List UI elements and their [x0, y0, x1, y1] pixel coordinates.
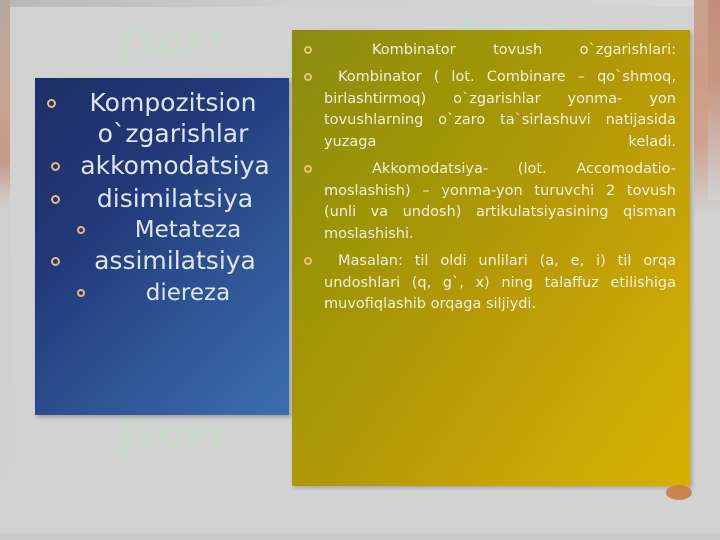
watermark-symbol: ƒ — [118, 412, 136, 460]
circle-bullet-icon — [51, 162, 60, 171]
list-item-label: Kombinator ( lot. Combinare – qo`shmoq, … — [324, 69, 676, 149]
circle-bullet-icon — [304, 165, 312, 173]
list-item: Kombinator ( lot. Combinare – qo`shmoq, … — [300, 67, 676, 153]
circle-bullet-icon — [51, 195, 60, 204]
left-content-box: Kompozitsion o`zgarishlar akkomodatsiya … — [35, 78, 289, 415]
list-item-label: Akkomodatsiya- (lot. Accomodatio-moslash… — [324, 161, 676, 241]
list-item: Kombinator tovush o`zgarishlari: — [300, 40, 676, 61]
circle-bullet-icon — [47, 99, 56, 108]
list-item: Metateza — [41, 216, 279, 244]
decorative-dot — [666, 485, 692, 500]
list-item-label: diereza — [146, 280, 230, 306]
list-item-label: disimilatsiya — [97, 184, 253, 213]
list-item-label: Kompozitsion o`zgarishlar — [90, 88, 257, 148]
list-item: assimilatsiya — [41, 246, 279, 277]
circle-bullet-icon — [51, 257, 60, 266]
right-bullet-list: Kombinator tovush o`zgarishlari: Kombina… — [300, 40, 676, 315]
watermark-text: SOFT — [136, 26, 228, 61]
list-item: diereza — [41, 279, 279, 307]
watermark-text: SOFT — [136, 420, 228, 455]
list-item-label: Metateza — [135, 217, 241, 243]
circle-bullet-icon — [304, 73, 312, 81]
list-item-label: Masalan: til oldi unlilari (a, e, i) til… — [324, 253, 676, 312]
slide-bottom-border — [0, 534, 720, 540]
watermark: ƒSOFT — [118, 18, 229, 66]
list-item: akkomodatsiya — [41, 151, 279, 182]
watermark-symbol: ƒ — [118, 18, 136, 66]
slide-top-border — [0, 0, 720, 7]
list-item: Akkomodatsiya- (lot. Accomodatio-moslash… — [300, 159, 676, 245]
circle-bullet-icon — [77, 289, 85, 297]
slide-left-border — [0, 0, 10, 540]
right-content-box: Kombinator tovush o`zgarishlari: Kombina… — [292, 30, 690, 486]
list-item: Kompozitsion o`zgarishlar — [41, 88, 279, 149]
slide-right-inner-border — [708, 0, 720, 200]
list-item-label: assimilatsiya — [94, 246, 256, 275]
circle-bullet-icon — [304, 257, 312, 265]
circle-bullet-icon — [304, 46, 312, 54]
watermark: ƒSOFT — [118, 412, 229, 460]
list-item: Masalan: til oldi unlilari (a, e, i) til… — [300, 251, 676, 315]
circle-bullet-icon — [77, 226, 85, 234]
list-item: disimilatsiya — [41, 184, 279, 215]
slide: ƒSOFT ƒSOFT ƒSOFT ƒSOFT ƒSOFT ƒSOFT Komp… — [0, 0, 720, 540]
left-bullet-list: Kompozitsion o`zgarishlar akkomodatsiya … — [35, 82, 289, 307]
list-item-label: akkomodatsiya — [80, 151, 269, 180]
list-item-label: Kombinator tovush o`zgarishlari: — [372, 42, 676, 58]
